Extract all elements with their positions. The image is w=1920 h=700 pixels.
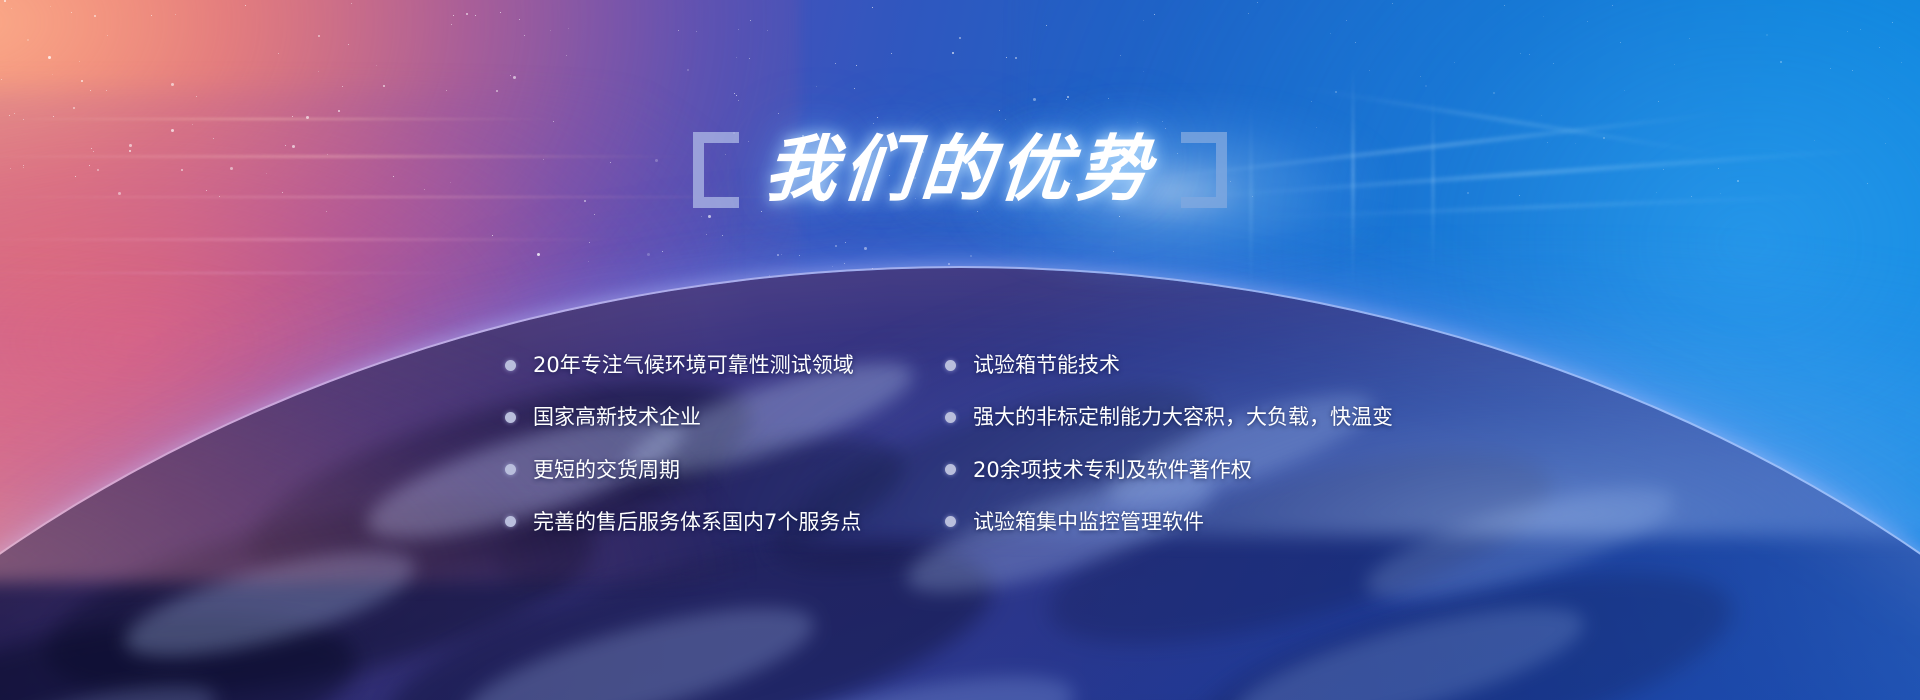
left-bracket-decoration: [693, 132, 739, 208]
page-title: 我们的优势: [762, 134, 1158, 206]
list-item-label: 国家高新技术企业: [533, 404, 701, 430]
list-item: 国家高新技术企业: [505, 404, 875, 430]
list-item: 试验箱节能技术: [945, 352, 1415, 378]
list-item-label: 试验箱节能技术: [973, 352, 1120, 378]
list-item: 更短的交货周期: [505, 457, 875, 483]
bullet-dot-icon: [505, 412, 516, 423]
list-item-label: 20余项技术专利及软件著作权: [973, 457, 1252, 483]
list-item-label: 20年专注气候环境可靠性测试领域: [533, 352, 854, 378]
list-item: 试验箱集中监控管理软件: [945, 509, 1415, 535]
list-item-label: 强大的非标定制能力大容积，大负载，快温变: [973, 404, 1393, 430]
list-item-label: 完善的售后服务体系国内7个服务点: [533, 509, 861, 535]
bullet-dot-icon: [945, 516, 956, 527]
bullet-dot-icon: [505, 516, 516, 527]
list-item: 20余项技术专利及软件著作权: [945, 457, 1415, 483]
bullet-dot-icon: [945, 464, 956, 475]
bullet-dot-icon: [505, 464, 516, 475]
list-item-label: 试验箱集中监控管理软件: [973, 509, 1204, 535]
title-row: 我们的优势: [0, 132, 1920, 208]
right-bracket-decoration: [1181, 132, 1227, 208]
list-item-label: 更短的交货周期: [533, 457, 680, 483]
advantages-lists: 20年专注气候环境可靠性测试领域 国家高新技术企业 更短的交货周期 完善的售后服…: [0, 352, 1920, 535]
advantages-column-right: 试验箱节能技术 强大的非标定制能力大容积，大负载，快温变 20余项技术专利及软件…: [945, 352, 1415, 535]
list-item: 完善的售后服务体系国内7个服务点: [505, 509, 875, 535]
bullet-dot-icon: [945, 412, 956, 423]
bullet-dot-icon: [505, 360, 516, 371]
list-item: 20年专注气候环境可靠性测试领域: [505, 352, 875, 378]
advantages-column-left: 20年专注气候环境可靠性测试领域 国家高新技术企业 更短的交货周期 完善的售后服…: [505, 352, 875, 535]
list-item: 强大的非标定制能力大容积，大负载，快温变: [945, 404, 1415, 430]
bullet-dot-icon: [945, 360, 956, 371]
advantages-banner: 我们的优势 20年专注气候环境可靠性测试领域 国家高新技术企业 更短的交货周期 …: [0, 0, 1920, 700]
